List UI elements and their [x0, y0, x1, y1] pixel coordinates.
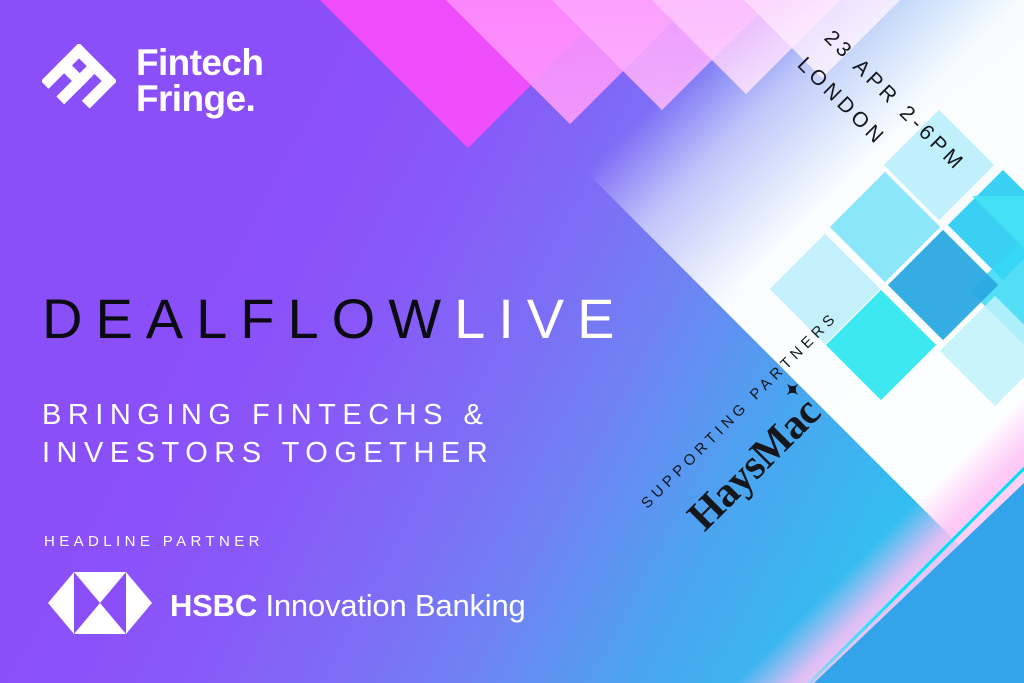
brand-wordmark: Fintech Fringe. — [136, 45, 263, 116]
event-details-block: 23 APR 2-6PM LONDON — [792, 26, 970, 204]
cyan-accent-line — [776, 410, 1024, 683]
cyan-square-1 — [948, 170, 1024, 280]
hsbc-brand-bold: HSBC — [170, 588, 257, 623]
cyan-corner-triangle — [972, 196, 1024, 248]
hsbc-wordmark: HSBC Innovation Banking — [170, 588, 526, 624]
haysmac-name: HaysMac — [679, 389, 829, 539]
page-title: DEALFLOWLIVE — [42, 286, 627, 351]
hsbc-brand-regular: Innovation Banking — [257, 588, 526, 623]
subheadline-line-2: INVESTORS TOGETHER — [42, 434, 494, 472]
headline-partner-label: HEADLINE PARTNER — [44, 533, 264, 550]
cyan-square-6 — [940, 296, 1024, 406]
event-promo-poster: Fintech Fringe. DEALFLOWLIVE BRINGING FI… — [0, 0, 1024, 683]
brand-name-line-1: Fintech — [136, 45, 263, 81]
magenta-diamond-1 — [256, 0, 680, 148]
cyan-square-3 — [970, 236, 1024, 346]
haysmac-wordmark: HaysMac ✦ — [678, 388, 830, 540]
blue-corner-triangle — [814, 483, 1024, 683]
magenta-diamond-4 — [534, 0, 958, 94]
diagonal-band-bottom-right-outer — [921, 260, 1024, 683]
brand-lockup: Fintech Fringe. — [42, 44, 263, 118]
diagonal-band-top-right — [586, 0, 1024, 568]
subheadline: BRINGING FINTECHS & INVESTORS TOGETHER — [42, 396, 494, 473]
brand-name-line-2: Fringe. — [136, 81, 263, 117]
supporting-partners-block: SUPPORTING PARTNERS HaysMac ✦ — [638, 309, 887, 558]
headline-partner-logo: HSBC Innovation Banking — [48, 572, 526, 639]
hsbc-hexagon-icon — [48, 572, 152, 639]
subheadline-line-1: BRINGING FINTECHS & — [42, 396, 494, 434]
fintech-fringe-monogram-icon — [42, 44, 116, 118]
headline-primary: DEALFLOW — [42, 287, 454, 350]
cyan-square-2 — [888, 230, 998, 340]
headline-secondary: LIVE — [454, 287, 627, 350]
magenta-diamond-2 — [358, 0, 782, 124]
